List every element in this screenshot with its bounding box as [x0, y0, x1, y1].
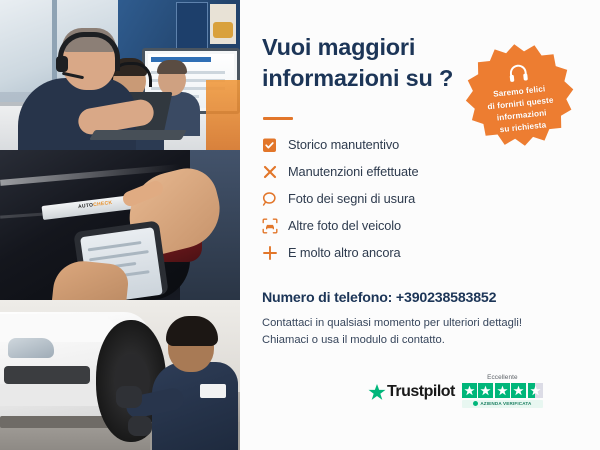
car-grille	[4, 366, 90, 384]
page-title-line-2: informazioni su ?	[262, 63, 472, 94]
feature-label: Altre foto del veicolo	[288, 218, 401, 233]
car-headlight	[8, 338, 54, 358]
contact-line-2: Chiamaci o usa il modulo di contatto.	[262, 332, 562, 349]
feature-label: Storico manutentivo	[288, 137, 399, 152]
star-filled	[511, 383, 526, 398]
laptop-keyboard	[89, 130, 187, 140]
call-center-agents-photo	[0, 0, 240, 150]
trustpilot-rating-block: Eccellente	[462, 374, 543, 408]
promo-banner: AUTOCHECK	[0, 0, 600, 450]
page-title: Vuoi maggiori informazioni su ?	[262, 32, 472, 95]
mechanic-glove	[116, 386, 142, 408]
verified-label: AZIENDA VERIFICATA	[480, 401, 531, 406]
verified-check-icon	[473, 401, 478, 406]
trustpilot-stars	[462, 383, 543, 398]
orange-foreground-object	[206, 80, 240, 150]
star-filled	[478, 383, 493, 398]
contact-line-1: Contattaci in qualsiasi momento per ulte…	[262, 315, 562, 332]
star-half	[528, 383, 543, 398]
person-three-hair	[157, 60, 187, 74]
lift-platform	[0, 416, 110, 428]
feature-item-manutenzioni-effettuate: Manutenzioni effettuate	[262, 158, 512, 185]
agent-headset-earcup	[56, 56, 68, 72]
uniform-logo	[200, 384, 226, 398]
feature-item-foto-segni-usura: Foto dei segni di usura	[262, 185, 512, 212]
tools-cross-icon	[262, 164, 288, 180]
star-filled	[495, 383, 510, 398]
feature-item-storico-manutentivo: Storico manutentivo	[262, 131, 512, 158]
mechanic-glove-lower	[128, 416, 152, 436]
scan-car-icon	[262, 218, 288, 234]
feature-item-molto-altro: E molto altro ancora	[262, 239, 512, 266]
trustpilot-verified-badge: AZIENDA VERIFICATA	[462, 400, 543, 408]
star-filled	[462, 383, 477, 398]
clipboard-check-icon	[262, 137, 288, 153]
headset-icon	[507, 63, 529, 83]
phone-number-label[interactable]: Numero di telefono: +390238583852	[262, 290, 496, 306]
mechanic-lift-photo	[0, 300, 240, 450]
title-underline-rule	[263, 117, 293, 120]
trustpilot-rating-label: Eccellente	[487, 374, 518, 381]
trustpilot-logo: Trustpilot	[368, 383, 455, 401]
feature-label: Manutenzioni effettuate	[288, 164, 419, 179]
contact-instructions: Contattaci in qualsiasi momento per ulte…	[262, 315, 562, 350]
plus-icon	[262, 245, 288, 261]
content-panel: Vuoi maggiori informazioni su ? Saremo f…	[240, 0, 600, 450]
trustpilot-brand-name: Trustpilot	[387, 383, 455, 401]
photo-strip: AUTOCHECK	[0, 0, 240, 450]
trustpilot-star-icon	[368, 383, 386, 401]
trustpilot-widget[interactable]: Trustpilot Eccellente	[368, 374, 543, 408]
car-inspection-photo: AUTOCHECK	[0, 150, 240, 300]
feature-item-altre-foto-veicolo: Altre foto del veicolo	[262, 212, 512, 239]
magnifier-icon	[262, 191, 288, 207]
wall-poster-2	[210, 4, 236, 44]
feature-list: Storico manutentivo Manutenzioni effettu…	[262, 131, 512, 266]
page-title-line-1: Vuoi maggiori	[262, 32, 472, 63]
feature-label: Foto dei segni di usura	[288, 191, 415, 206]
wall-poster	[176, 2, 208, 50]
feature-label: E molto altro ancora	[288, 245, 401, 260]
